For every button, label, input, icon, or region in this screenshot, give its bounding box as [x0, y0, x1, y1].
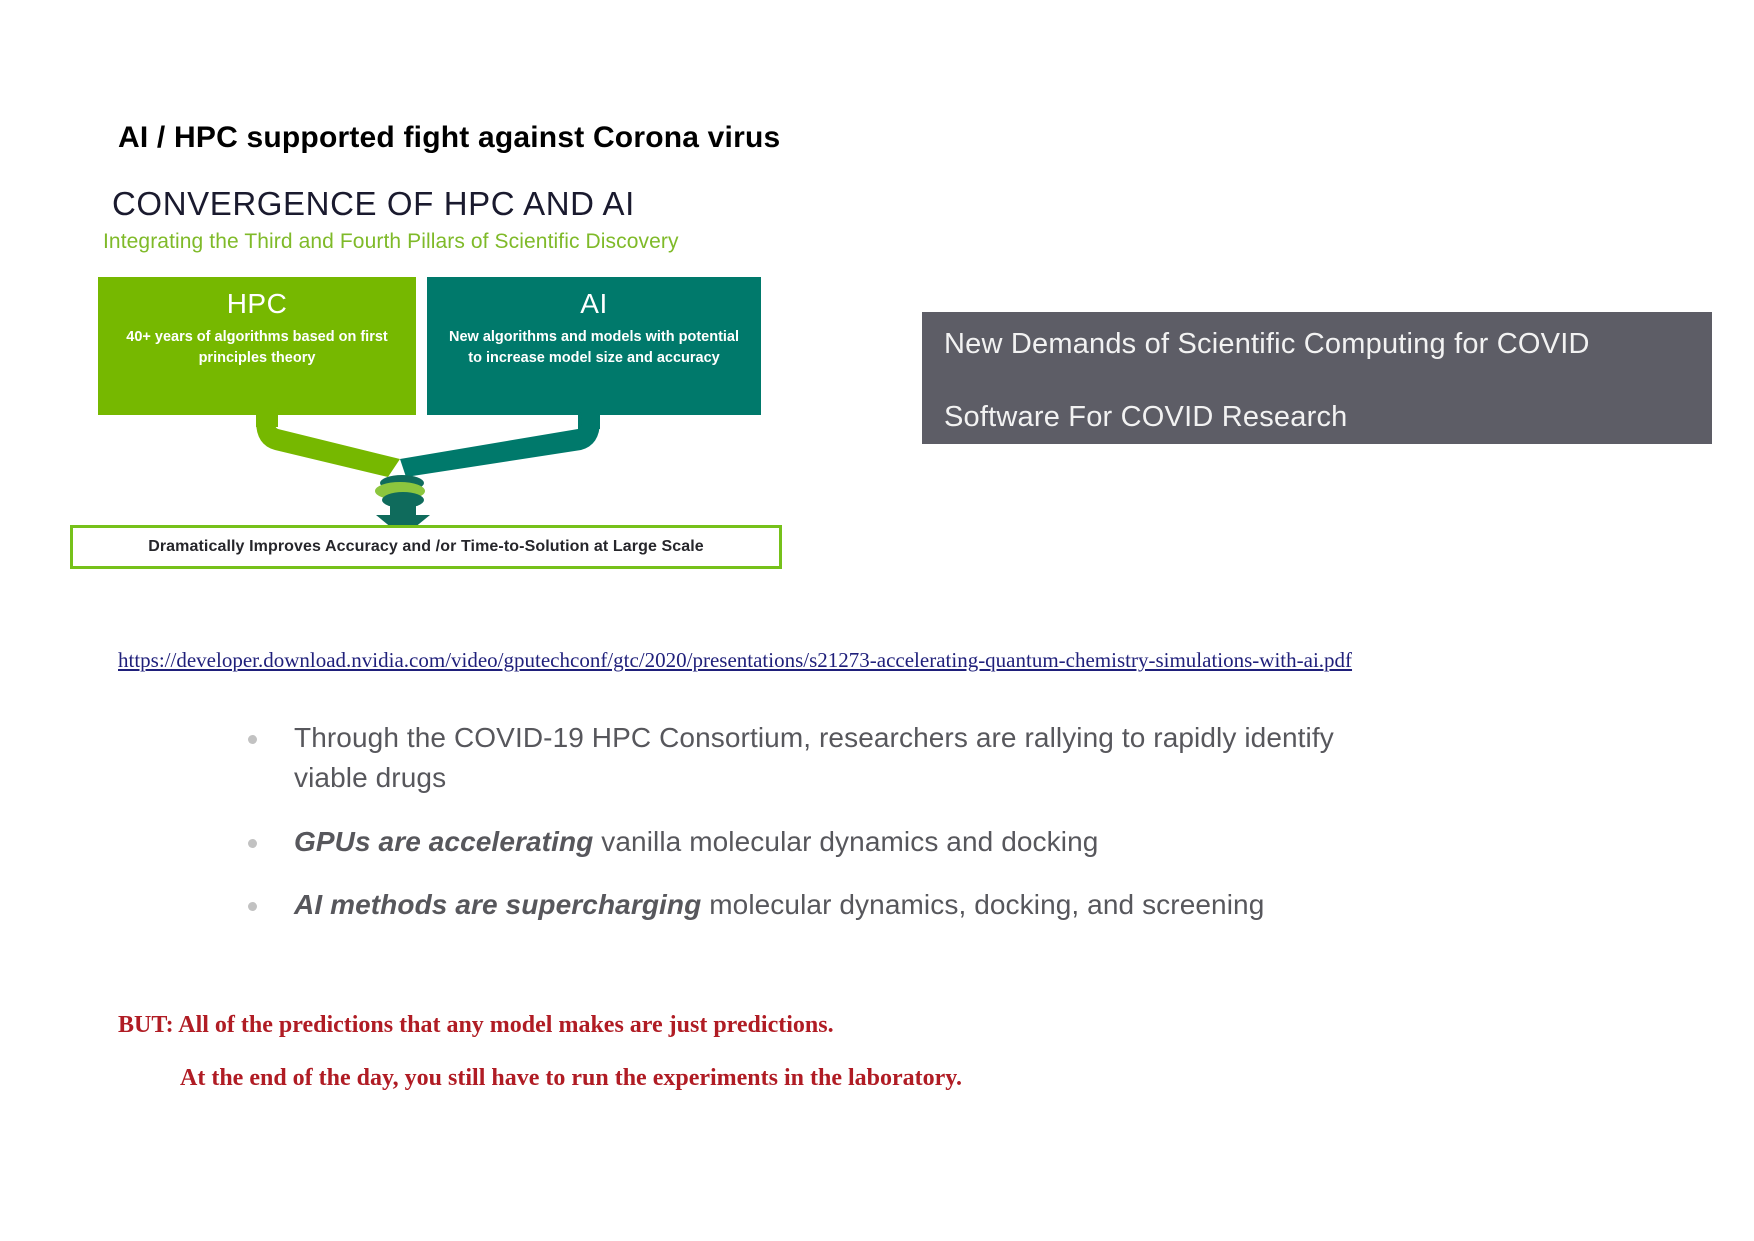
bullet-body: molecular dynamics, docking, and screeni…	[701, 889, 1264, 920]
source-url-link[interactable]: https://developer.download.nvidia.com/vi…	[118, 648, 1352, 673]
pillar-ai-text: New algorithms and models with potential…	[427, 321, 761, 369]
figure-subtitle: Integrating the Third and Fourth Pillars…	[103, 230, 679, 254]
caveat-line-2: At the end of the day, you still have to…	[118, 1065, 962, 1092]
pillar-card-ai: AI New algorithms and models with potent…	[427, 277, 761, 415]
bullet-dot-icon	[248, 735, 257, 744]
bullet-emphasis: AI methods are supercharging	[294, 889, 701, 920]
list-item: GPUs are accelerating vanilla molecular …	[238, 822, 1358, 862]
bullet-dot-icon	[248, 902, 257, 911]
pillar-card-hpc: HPC 40+ years of algorithms based on fir…	[98, 277, 416, 415]
list-item: Through the COVID-19 HPC Consortium, res…	[238, 718, 1358, 798]
list-item: AI methods are supercharging molecular d…	[238, 885, 1358, 925]
caveat-line-1: BUT: All of the predictions that any mod…	[118, 1012, 962, 1039]
outcome-text: Dramatically Improves Accuracy and /or T…	[148, 538, 704, 556]
bullet-list: Through the COVID-19 HPC Consortium, res…	[238, 718, 1358, 949]
covid-heading-software: Software For COVID Research	[944, 403, 1690, 432]
pillar-hpc-heading: HPC	[98, 286, 416, 321]
converging-arrows-icon	[70, 407, 870, 539]
bullet-text: GPUs are accelerating vanilla molecular …	[294, 822, 1358, 862]
covid-heading-demands: New Demands of Scientific Computing for …	[944, 330, 1690, 359]
covid-headings-box: New Demands of Scientific Computing for …	[922, 312, 1712, 444]
pillar-hpc-text: 40+ years of algorithms based on first p…	[98, 321, 416, 369]
pillar-ai-heading: AI	[427, 286, 761, 321]
bullet-text: Through the COVID-19 HPC Consortium, res…	[294, 718, 1358, 798]
page-title: AI / HPC supported fight against Corona …	[118, 121, 780, 155]
bullet-dot-icon	[248, 839, 257, 848]
caveat-note: BUT: All of the predictions that any mod…	[118, 1012, 962, 1092]
convergence-figure: CONVERGENCE OF HPC AND AI Integrating th…	[70, 185, 870, 585]
bullet-emphasis: GPUs are accelerating	[294, 826, 593, 857]
figure-title: CONVERGENCE OF HPC AND AI	[112, 185, 635, 223]
outcome-box: Dramatically Improves Accuracy and /or T…	[70, 525, 782, 569]
bullet-body: vanilla molecular dynamics and docking	[593, 826, 1098, 857]
bullet-text: AI methods are supercharging molecular d…	[294, 885, 1358, 925]
bullet-body: Through the COVID-19 HPC Consortium, res…	[294, 722, 1334, 793]
